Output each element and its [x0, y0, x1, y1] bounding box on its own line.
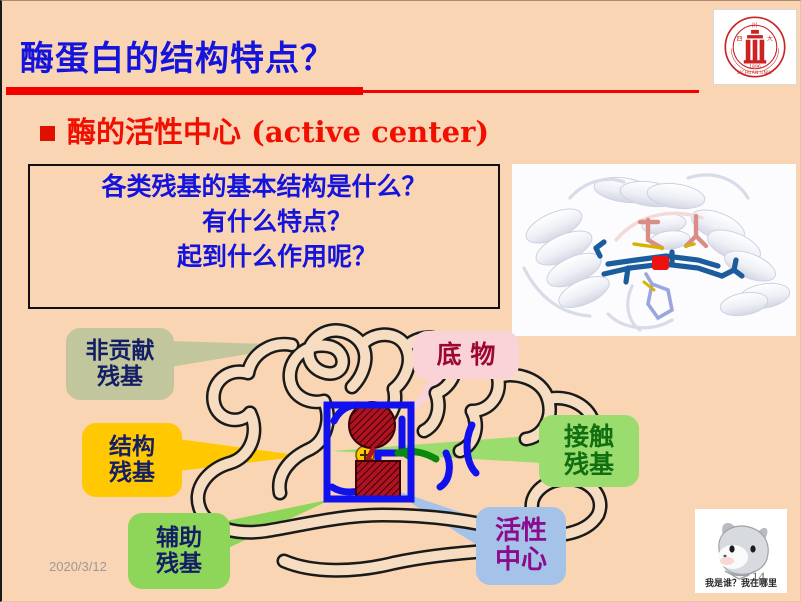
leader-auxiliary [226, 499, 332, 549]
mascot-image: 14 我是谁？我在哪里 [695, 509, 787, 593]
leader-contact [332, 435, 542, 463]
mascot-caption: 我是谁？我在哪里 [695, 576, 787, 589]
slide-canvas: 酶蛋白的结构特点？ 1896 SICHUAN UNIV. 四 川 大 [0, 0, 801, 602]
callout-line-1: 底 物 [437, 341, 496, 369]
callout-line-1: 结构 [109, 434, 155, 460]
callout-line-2: 中心 [495, 546, 547, 575]
callout-line-2: 残基 [97, 364, 143, 390]
callout-leaders [2, 1, 801, 602]
callout-substrate: 底 物 [413, 331, 519, 379]
leader-substrate [404, 375, 454, 419]
callout-line-1: 辅助 [156, 525, 202, 551]
callout-line-1: 接触 [564, 423, 614, 451]
leader-noncontributing [170, 341, 302, 367]
callout-line-2: 残基 [156, 551, 202, 577]
callout-noncontributing-residue: 非贡献 残基 [66, 328, 174, 400]
callout-line-2: 残基 [564, 451, 614, 479]
leader-active-center [386, 487, 480, 547]
date-stamp: 2020/3/12 [49, 559, 107, 574]
callout-auxiliary-residue: 辅助 残基 [128, 513, 230, 589]
callout-line-1: 非贡献 [86, 338, 155, 364]
callout-structural-residue: 结构 残基 [82, 423, 182, 497]
callout-active-center: 活性 中心 [476, 507, 566, 585]
callout-line-1: 活性 [495, 517, 547, 546]
leader-structural [178, 439, 304, 471]
callout-contact-residue: 接触 残基 [539, 415, 639, 487]
callout-line-2: 残基 [109, 460, 155, 486]
